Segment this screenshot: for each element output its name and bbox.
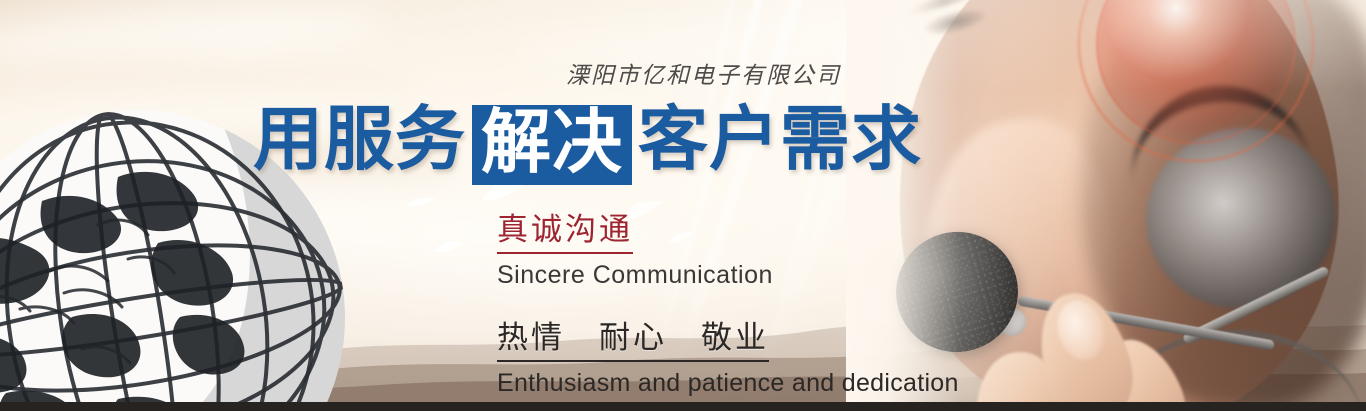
promotional-banner: 溧阳市亿和电子有限公司 用服务解决客户需求 真诚沟通 Sincere Commu… [0, 0, 1366, 411]
headline-after: 客户需求 [638, 100, 922, 178]
slogan-cn-2: 热情 耐心 敬业 [497, 312, 769, 362]
banner-copy: 溧阳市亿和电子有限公司 用服务解决客户需求 真诚沟通 Sincere Commu… [0, 0, 1366, 411]
headline-before: 用服务 [253, 100, 466, 178]
slogan-item-1: 真诚沟通 Sincere Communication [497, 204, 959, 290]
headline: 用服务解决客户需求 [253, 98, 922, 185]
slogan-en-1: Sincere Communication [497, 261, 959, 290]
bottom-bar [0, 402, 1366, 411]
slogan-en-2: Enthusiasm and patience and dedication [497, 369, 959, 398]
slogan-cn-1: 真诚沟通 [497, 204, 633, 254]
headline-highlight: 解决 [472, 105, 632, 185]
company-name: 溧阳市亿和电子有限公司 [566, 56, 841, 90]
slogan-item-2: 热情 耐心 敬业 Enthusiasm and patience and ded… [497, 290, 959, 398]
slogan-block: 真诚沟通 Sincere Communication 热情 耐心 敬业 Enth… [497, 204, 959, 398]
